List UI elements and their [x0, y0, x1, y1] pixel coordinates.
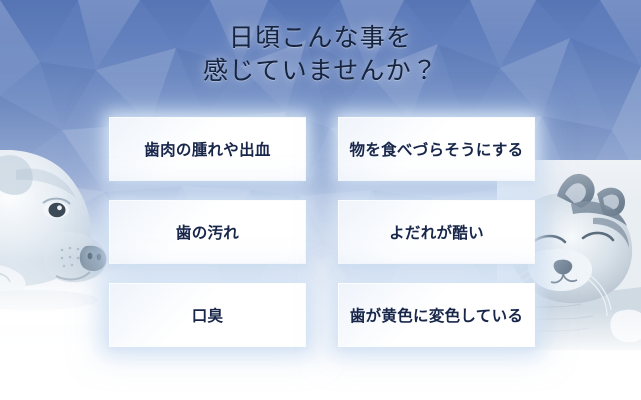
promo-banner: 日頃こんな事を 感じていませんか？ 歯肉の腫れや出血 物を食べづらそうにする 歯…	[0, 0, 641, 400]
symptom-label: 歯の汚れ	[176, 221, 239, 243]
symptom-label: よだれが酷い	[389, 221, 484, 243]
page-title: 日頃こんな事を 感じていませんか？	[0, 22, 641, 88]
title-line-2: 感じていませんか？	[0, 55, 641, 88]
symptom-label: 歯肉の腫れや出血	[144, 138, 270, 160]
title-line-1: 日頃こんな事を	[0, 22, 641, 55]
symptom-label: 物を食べづらそうにする	[350, 138, 524, 160]
symptom-box-grid: 歯肉の腫れや出血 物を食べづらそうにする 歯の汚れ よだれが酷い 口臭 歯が黄色…	[110, 118, 534, 346]
symptom-box-yellow-teeth[interactable]: 歯が黄色に変色している	[339, 284, 534, 346]
symptom-box-difficulty-eating[interactable]: 物を食べづらそうにする	[339, 118, 534, 180]
symptom-box-excessive-drool[interactable]: よだれが酷い	[339, 201, 534, 263]
symptom-box-bad-breath[interactable]: 口臭	[110, 284, 305, 346]
symptom-box-tooth-dirt[interactable]: 歯の汚れ	[110, 201, 305, 263]
symptom-label: 口臭	[192, 304, 224, 326]
symptom-box-gum-swelling-bleeding[interactable]: 歯肉の腫れや出血	[110, 118, 305, 180]
symptom-label: 歯が黄色に変色している	[350, 304, 523, 326]
